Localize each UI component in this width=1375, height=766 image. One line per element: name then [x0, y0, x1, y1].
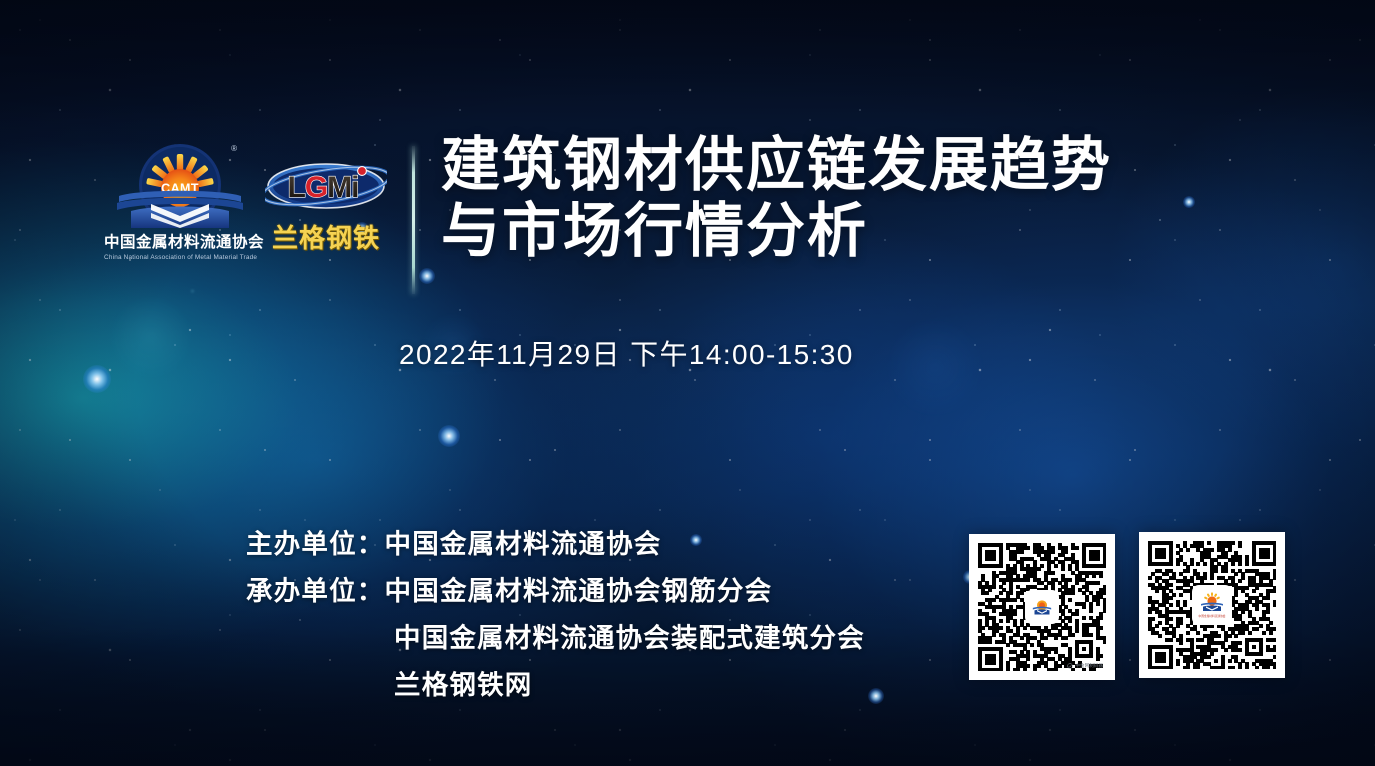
- lgmi-name-cn: 兰格钢铁: [262, 218, 390, 255]
- camt-name-en: China National Association of Metal Mate…: [104, 254, 256, 261]
- logo-group: CAMT ® 中国金属材料流通协会 China Nat: [104, 130, 390, 261]
- camt-emblem-icon: CAMT ®: [117, 140, 243, 228]
- organizer-coorg-2: 中国金属材料流通协会装配式建筑分会: [246, 615, 865, 662]
- qr-center-logo: 中国金属材料流通协会: [1194, 587, 1230, 623]
- svg-text:LGMi: LGMi: [288, 171, 359, 204]
- qr-footer-label: 中金网制码器: [1075, 663, 1103, 669]
- page-title-line1: 建筑钢材供应链发展趋势: [441, 132, 1112, 198]
- lgmi-logo: LGMi 兰格钢铁: [262, 140, 390, 255]
- qr-center-logo: [1027, 592, 1057, 622]
- organizer-block: 主办单位：中国金属材料流通协会 承办单位：中国金属材料流通协会钢筋分会 中国金属…: [246, 521, 865, 710]
- lgmi-emblem-icon: LGMi: [265, 158, 387, 214]
- event-datetime: 2022年11月29日 下午14:00-15:30: [399, 333, 854, 373]
- camt-icon-svg: CAMT: [117, 140, 243, 228]
- page-title-line2: 与市场行情分析: [441, 198, 1112, 264]
- organizer-host: 主办单位：中国金属材料流通协会: [246, 521, 865, 568]
- qr-footer: 中金网制码器: [1067, 663, 1103, 669]
- camt-logo: CAMT ® 中国金属材料流通协会 China Nat: [104, 140, 256, 261]
- organizer-coorg-3: 兰格钢铁网: [246, 662, 865, 709]
- camt-mini-icon: [1200, 592, 1224, 614]
- lgmi-icon-svg: LGMi: [265, 158, 387, 214]
- qr-center-caption: 中国金属材料流通协会: [1198, 614, 1225, 618]
- camt-name-cn: 中国金属材料流通协会: [104, 230, 256, 252]
- header-divider: [412, 146, 415, 294]
- qr-code-left[interactable]: 中金网制码器: [969, 534, 1115, 680]
- qr-code-right[interactable]: 中国金属材料流通协会: [1139, 532, 1285, 678]
- qr-card[interactable]: 中金网制码器: [969, 534, 1115, 680]
- organizer-coorg-1: 承办单位：中国金属材料流通协会钢筋分会: [246, 568, 865, 615]
- qr-card[interactable]: 中国金属材料流通协会: [1139, 532, 1285, 678]
- registered-mark: ®: [231, 144, 237, 153]
- camt-mini-icon: [1032, 597, 1052, 617]
- poster-header: CAMT ® 中国金属材料流通协会 China Nat: [104, 130, 1112, 294]
- title-block: 建筑钢材供应链发展趋势 与市场行情分析: [441, 130, 1112, 264]
- qr-brand-icon: [1067, 663, 1073, 669]
- poster-canvas: CAMT ® 中国金属材料流通协会 China Nat: [0, 0, 1375, 766]
